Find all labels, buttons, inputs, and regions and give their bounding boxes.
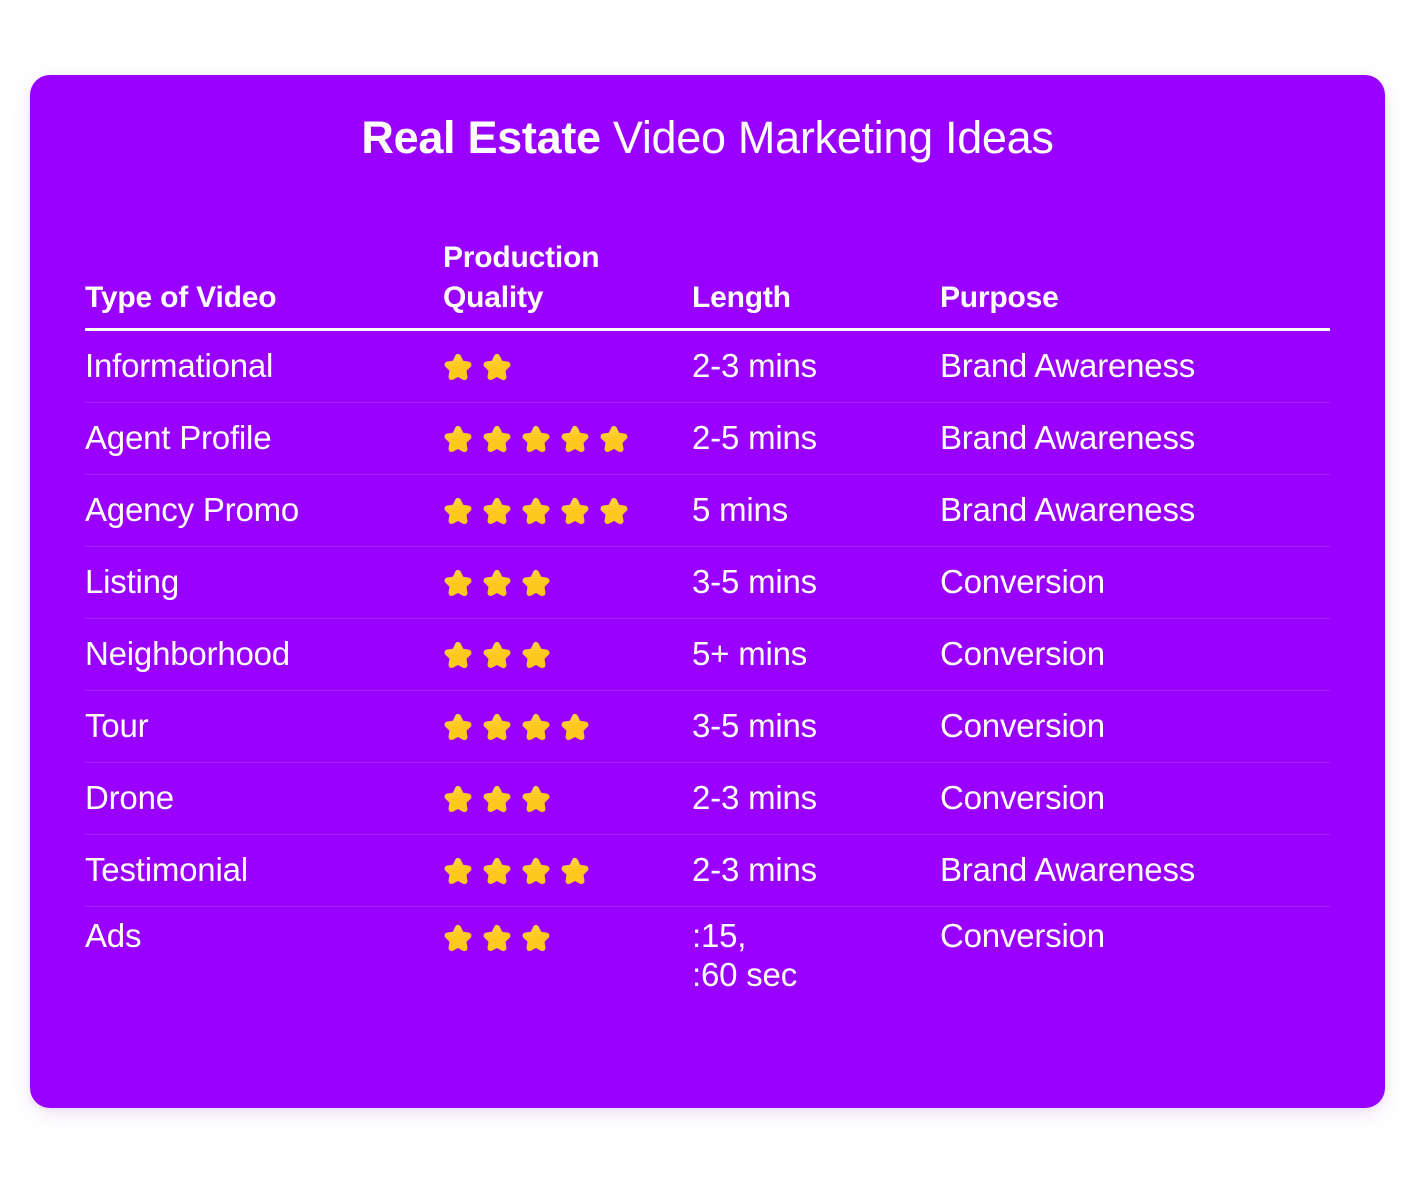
table-header-row: Type of Video Production Quality Length … <box>85 207 1330 331</box>
star-icon <box>560 424 590 454</box>
cell-type-of-video: Neighborhood <box>85 635 443 674</box>
cell-type-of-video: Informational <box>85 347 443 386</box>
cell-purpose: Conversion <box>940 635 1330 674</box>
star-icon <box>443 568 473 598</box>
cell-length: 3-5 mins <box>692 563 940 602</box>
cell-purpose: Conversion <box>940 563 1330 602</box>
table-body: Informational2-3 minsBrand AwarenessAgen… <box>85 331 1330 999</box>
star-rating <box>443 911 692 953</box>
cell-purpose: Brand Awareness <box>940 419 1330 458</box>
star-icon <box>599 496 629 526</box>
cell-length: 2-5 mins <box>692 419 940 458</box>
video-marketing-ideas-card: Real Estate Video Marketing Ideas Type o… <box>30 75 1385 1108</box>
star-icon <box>443 784 473 814</box>
star-icon <box>443 856 473 886</box>
table-row: Ads:15, :60 secConversion <box>85 907 1330 999</box>
table-row: Testimonial2-3 minsBrand Awareness <box>85 835 1330 907</box>
star-rating <box>443 568 692 598</box>
star-icon <box>443 712 473 742</box>
cell-length: 3-5 mins <box>692 707 940 746</box>
star-icon <box>521 784 551 814</box>
star-icon <box>443 640 473 670</box>
cell-production-quality <box>443 352 692 382</box>
cell-production-quality <box>443 856 692 886</box>
star-rating <box>443 352 692 382</box>
star-icon <box>521 496 551 526</box>
cell-purpose: Brand Awareness <box>940 491 1330 530</box>
cell-length: 5 mins <box>692 491 940 530</box>
star-icon <box>521 568 551 598</box>
page-title: Real Estate Video Marketing Ideas <box>30 113 1385 163</box>
cell-production-quality <box>443 784 692 814</box>
cell-type-of-video: Tour <box>85 707 443 746</box>
table-row: Neighborhood5+ minsConversion <box>85 619 1330 691</box>
cell-production-quality <box>443 568 692 598</box>
table-row: Agency Promo5 minsBrand Awareness <box>85 475 1330 547</box>
cell-type-of-video: Agency Promo <box>85 491 443 530</box>
cell-type-of-video: Testimonial <box>85 851 443 890</box>
cell-length: 5+ mins <box>692 635 940 674</box>
cell-type-of-video: Agent Profile <box>85 419 443 458</box>
cell-purpose: Conversion <box>940 779 1330 818</box>
column-header-production-quality: Production Quality <box>443 238 692 318</box>
column-header-length: Length <box>692 278 940 318</box>
cell-type-of-video: Ads <box>85 911 443 956</box>
cell-length: 2-3 mins <box>692 779 940 818</box>
cell-purpose: Brand Awareness <box>940 851 1330 890</box>
star-icon <box>560 712 590 742</box>
star-icon <box>482 568 512 598</box>
star-icon <box>482 784 512 814</box>
column-header-purpose: Purpose <box>940 278 1330 318</box>
star-icon <box>521 424 551 454</box>
page-title-regular: Video Marketing Ideas <box>601 112 1054 163</box>
cell-purpose: Conversion <box>940 911 1330 956</box>
table-row: Listing3-5 minsConversion <box>85 547 1330 619</box>
cell-type-of-video: Drone <box>85 779 443 818</box>
star-icon <box>560 496 590 526</box>
column-header-type-of-video: Type of Video <box>85 278 443 318</box>
star-rating <box>443 784 692 814</box>
cell-production-quality <box>443 911 692 953</box>
cell-production-quality <box>443 424 692 454</box>
cell-production-quality <box>443 712 692 742</box>
cell-length: 2-3 mins <box>692 347 940 386</box>
star-icon <box>560 856 590 886</box>
cell-length: :15, :60 sec <box>692 911 940 995</box>
cell-type-of-video: Listing <box>85 563 443 602</box>
star-rating <box>443 640 692 670</box>
table-row: Agent Profile2-5 minsBrand Awareness <box>85 403 1330 475</box>
star-icon <box>482 496 512 526</box>
page-title-bold: Real Estate <box>361 112 600 163</box>
cell-purpose: Conversion <box>940 707 1330 746</box>
star-rating <box>443 496 692 526</box>
star-icon <box>482 352 512 382</box>
star-icon <box>443 424 473 454</box>
star-icon <box>521 712 551 742</box>
star-icon <box>482 923 512 953</box>
star-icon <box>482 856 512 886</box>
star-icon <box>443 352 473 382</box>
table-row: Tour3-5 minsConversion <box>85 691 1330 763</box>
star-icon <box>482 640 512 670</box>
star-rating <box>443 856 692 886</box>
star-icon <box>599 424 629 454</box>
table-row: Drone2-3 minsConversion <box>85 763 1330 835</box>
page-root: Real Estate Video Marketing Ideas Type o… <box>0 0 1413 1186</box>
star-icon <box>521 923 551 953</box>
star-rating <box>443 424 692 454</box>
star-icon <box>443 496 473 526</box>
star-icon <box>482 424 512 454</box>
table-row: Informational2-3 minsBrand Awareness <box>85 331 1330 403</box>
cell-length: 2-3 mins <box>692 851 940 890</box>
star-icon <box>443 923 473 953</box>
star-rating <box>443 712 692 742</box>
cell-production-quality <box>443 496 692 526</box>
star-icon <box>521 856 551 886</box>
cell-purpose: Brand Awareness <box>940 347 1330 386</box>
star-icon <box>521 640 551 670</box>
star-icon <box>482 712 512 742</box>
cell-production-quality <box>443 640 692 670</box>
video-ideas-table: Type of Video Production Quality Length … <box>85 207 1330 999</box>
